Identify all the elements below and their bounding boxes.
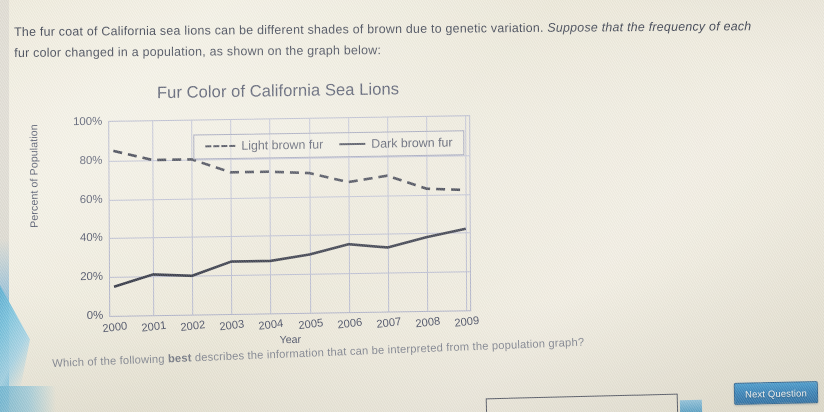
- photographed-screen: The fur coat of California sea lions can…: [0, 0, 824, 412]
- chart-plot-area: Light brown fur Dark brown fur 0%20%40%6…: [108, 115, 471, 317]
- next-question-button-label: Next Question: [745, 387, 807, 399]
- chart-x-tick-2008: 2008: [415, 315, 441, 330]
- next-question-button[interactable]: Next Question: [734, 381, 818, 405]
- chart-x-tick-2009: 2009: [454, 315, 480, 330]
- chart-x-tick-2006: 2006: [337, 317, 363, 332]
- legend-label-light-brown-fur: Light brown fur: [241, 137, 323, 152]
- chart-y-tick-60: 60%: [80, 193, 103, 205]
- population-line-chart: Fur Color of California Sea Lions Percen…: [36, 77, 489, 354]
- chart-x-tick-2001: 2001: [141, 320, 167, 335]
- chart-x-tick-2002: 2002: [180, 319, 206, 334]
- chart-y-tick-100: 100%: [73, 116, 102, 128]
- chart-y-tick-40: 40%: [80, 232, 103, 244]
- chart-line-dark-brown-fur: [114, 229, 466, 287]
- chart-legend: Light brown fur Dark brown fur: [193, 130, 464, 159]
- prompt-line2: fur color changed in a population, as sh…: [14, 43, 381, 60]
- question-text-before: Which of the following: [52, 353, 168, 370]
- chart-x-tick-2005: 2005: [297, 317, 323, 332]
- legend-label-dark-brown-fur: Dark brown fur: [371, 135, 452, 150]
- prompt-line1-plain: The fur coat of California sea lions can…: [14, 21, 547, 39]
- solid-line-swatch-icon: [339, 143, 365, 145]
- question-emphasis: best: [168, 352, 192, 365]
- chart-y-tick-0: 0%: [87, 310, 104, 322]
- answer-choice-chip[interactable]: [680, 400, 702, 412]
- chart-y-tick-80: 80%: [80, 155, 103, 167]
- chart-x-tick-2003: 2003: [219, 318, 245, 333]
- question-prompt: The fur coat of California sea lions can…: [14, 16, 814, 64]
- answer-choice-box[interactable]: [486, 394, 679, 412]
- prompt-line1-italic: Suppose that the frequency of each: [547, 19, 751, 35]
- chart-x-tick-2004: 2004: [258, 318, 284, 333]
- legend-item-dark-brown-fur: Dark brown fur: [339, 135, 452, 151]
- chart-x-tick-2007: 2007: [376, 316, 402, 331]
- dashed-line-swatch-icon: [205, 145, 235, 147]
- chart-y-tick-20: 20%: [80, 271, 103, 283]
- legend-item-light-brown-fur: Light brown fur: [205, 137, 323, 153]
- chart-title: Fur Color of California Sea Lions: [108, 80, 448, 104]
- screen-bottom-blue-strip: [0, 386, 56, 412]
- chart-x-tick-2000: 2000: [102, 320, 128, 335]
- chart-y-axis-label: Percent of Population: [28, 124, 41, 228]
